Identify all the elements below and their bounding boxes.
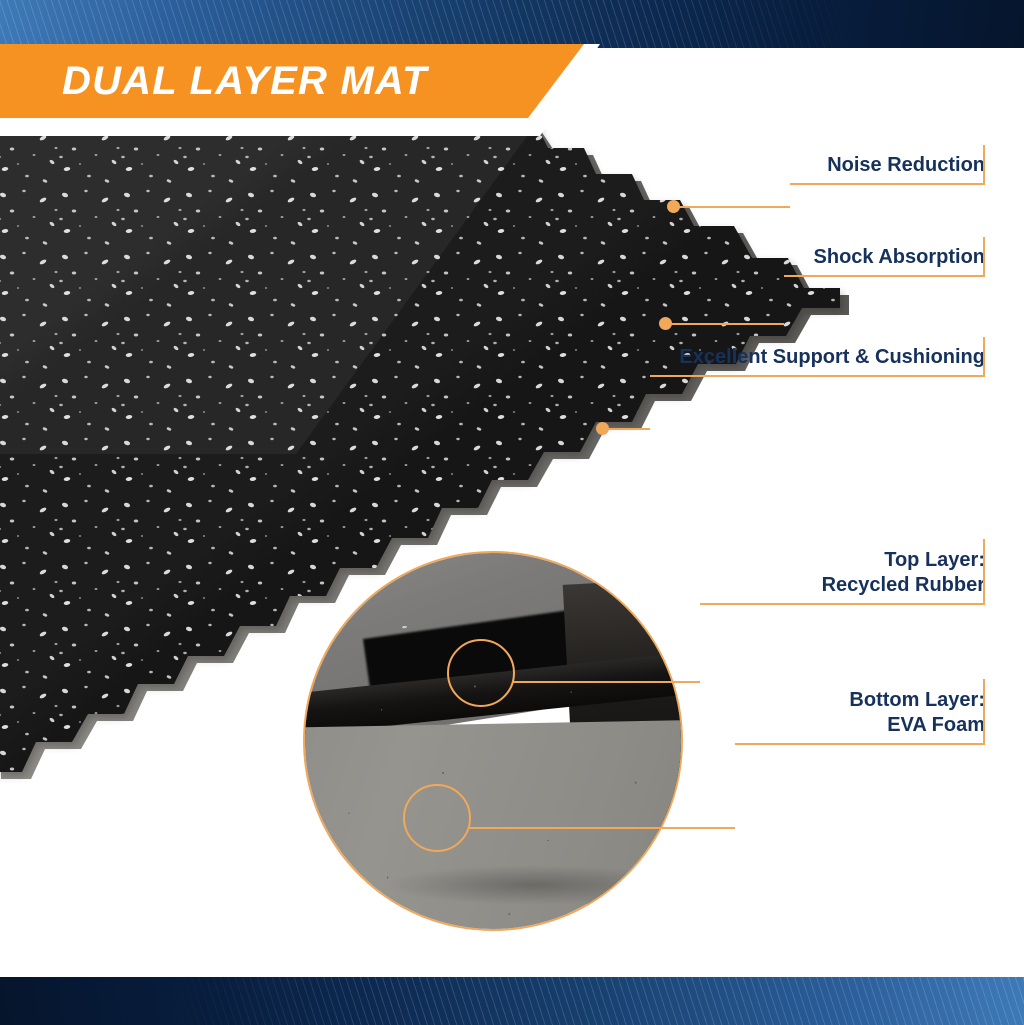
page-title: DUAL LAYER MAT bbox=[62, 61, 428, 101]
photo-drop-shadow bbox=[383, 865, 683, 905]
title-banner: DUAL LAYER MAT bbox=[0, 44, 600, 136]
callout-bottom-layer-label: Bottom Layer: EVA Foam bbox=[849, 688, 985, 737]
top-decorative-bar bbox=[0, 0, 1024, 48]
top-bar-stripe-pattern bbox=[0, 0, 1024, 48]
bottom-bar-stripe-pattern bbox=[0, 977, 1024, 1025]
callout-top-layer-line1: Top Layer: bbox=[884, 549, 985, 571]
callout-underline bbox=[784, 275, 985, 277]
callout-excellent-support-label: Excellent Support & Cushioning bbox=[679, 345, 985, 369]
callout-underline bbox=[650, 375, 985, 377]
callout-shock-absorption-label: Shock Absorption bbox=[814, 245, 985, 269]
magnifier-photo bbox=[303, 551, 683, 931]
title-banner-fill: DUAL LAYER MAT bbox=[0, 44, 584, 118]
cross-section-magnifier bbox=[303, 551, 683, 931]
callout-right-tick bbox=[983, 145, 985, 185]
callout-right-tick bbox=[983, 237, 985, 277]
infographic-canvas: Noise Reduction Shock Absorption Excelle… bbox=[0, 0, 1024, 1025]
top-layer-marker-circle bbox=[447, 639, 515, 707]
excellent-support-leader-line bbox=[602, 428, 650, 430]
bottom-layer-leader-line bbox=[468, 827, 735, 829]
bottom-decorative-bar bbox=[0, 975, 1024, 1025]
noise-reduction-leader-line bbox=[673, 206, 790, 208]
callout-underline bbox=[790, 183, 985, 185]
callout-right-tick bbox=[983, 539, 985, 605]
callout-right-tick bbox=[983, 679, 985, 745]
callout-underline bbox=[735, 743, 985, 745]
callout-bottom-layer-line1: Bottom Layer: bbox=[849, 689, 985, 711]
shock-absorption-leader-line bbox=[665, 323, 784, 325]
callout-underline bbox=[700, 603, 985, 605]
callout-bottom-layer-line2: EVA Foam bbox=[887, 714, 985, 736]
bottom-layer-marker-circle bbox=[403, 784, 471, 852]
callout-right-tick bbox=[983, 337, 985, 377]
callout-top-layer-label: Top Layer: Recycled Rubber bbox=[822, 548, 985, 597]
top-layer-leader-line bbox=[512, 681, 700, 683]
callout-noise-reduction-label: Noise Reduction bbox=[827, 153, 985, 177]
callout-top-layer-line2: Recycled Rubber bbox=[822, 574, 985, 596]
